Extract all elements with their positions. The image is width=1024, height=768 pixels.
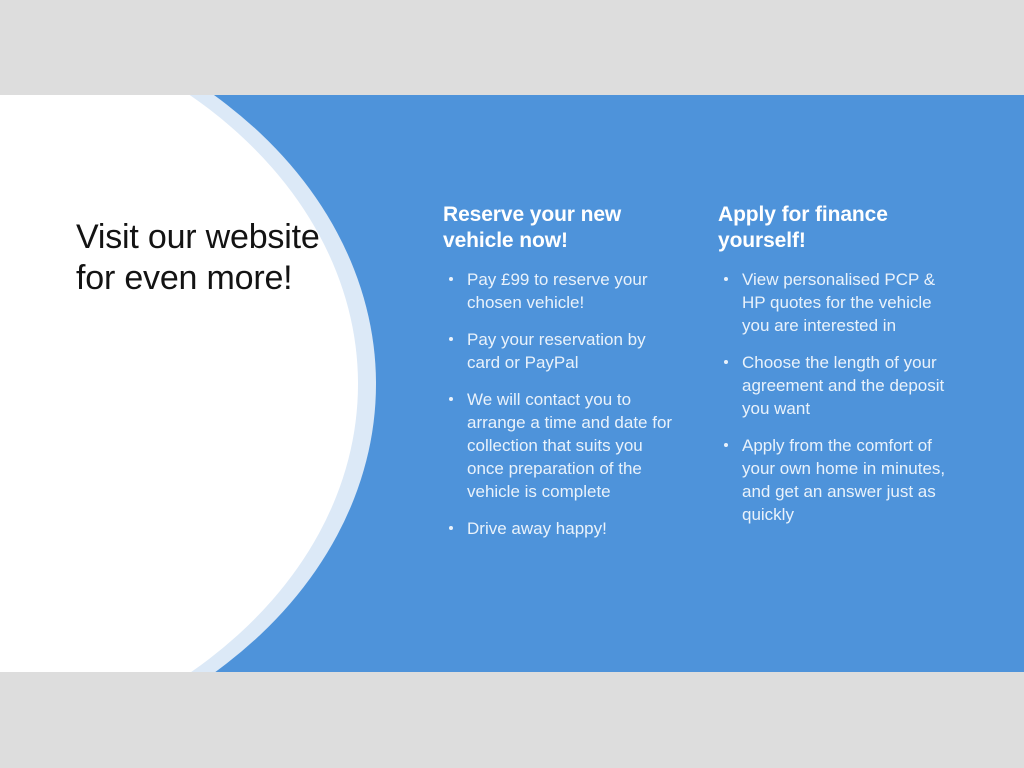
column-reserve-heading: Reserve your new vehicle now!: [443, 202, 681, 254]
bullet-dot-icon: [449, 337, 453, 341]
column-finance-bullets: View personalised PCP & HP quotes for th…: [718, 268, 956, 526]
column-finance-heading: Apply for finance yourself!: [718, 202, 956, 254]
column-reserve: Reserve your new vehicle now! Pay £99 to…: [443, 202, 681, 540]
column-finance: Apply for finance yourself! View persona…: [718, 202, 956, 526]
list-item-text: Pay your reservation by card or PayPal: [467, 330, 646, 372]
list-item: Drive away happy!: [443, 517, 681, 540]
list-item-text: Apply from the comfort of your own home …: [742, 436, 945, 524]
presentation-screen: Visit our website for even more! Reserve…: [0, 0, 1024, 768]
bullet-dot-icon: [449, 397, 453, 401]
list-item-text: Choose the length of your agreement and …: [742, 353, 944, 418]
slide-canvas: Visit our website for even more! Reserve…: [0, 95, 1024, 672]
bullet-dot-icon: [449, 526, 453, 530]
bullet-dot-icon: [724, 360, 728, 364]
list-item-text: View personalised PCP & HP quotes for th…: [742, 270, 935, 335]
list-item: Apply from the comfort of your own home …: [718, 434, 956, 526]
list-item-text: We will contact you to arrange a time an…: [467, 390, 672, 501]
list-item: We will contact you to arrange a time an…: [443, 388, 681, 503]
list-item: Pay your reservation by card or PayPal: [443, 328, 681, 374]
column-reserve-bullets: Pay £99 to reserve your chosen vehicle! …: [443, 268, 681, 540]
list-item: Pay £99 to reserve your chosen vehicle!: [443, 268, 681, 314]
list-item: View personalised PCP & HP quotes for th…: [718, 268, 956, 337]
list-item: Choose the length of your agreement and …: [718, 351, 956, 420]
bullet-dot-icon: [449, 277, 453, 281]
list-item-text: Pay £99 to reserve your chosen vehicle!: [467, 270, 647, 312]
page-title: Visit our website for even more!: [76, 217, 326, 299]
bullet-dot-icon: [724, 277, 728, 281]
left-headline-block: Visit our website for even more!: [76, 217, 326, 299]
bullet-dot-icon: [724, 443, 728, 447]
list-item-text: Drive away happy!: [467, 519, 607, 538]
